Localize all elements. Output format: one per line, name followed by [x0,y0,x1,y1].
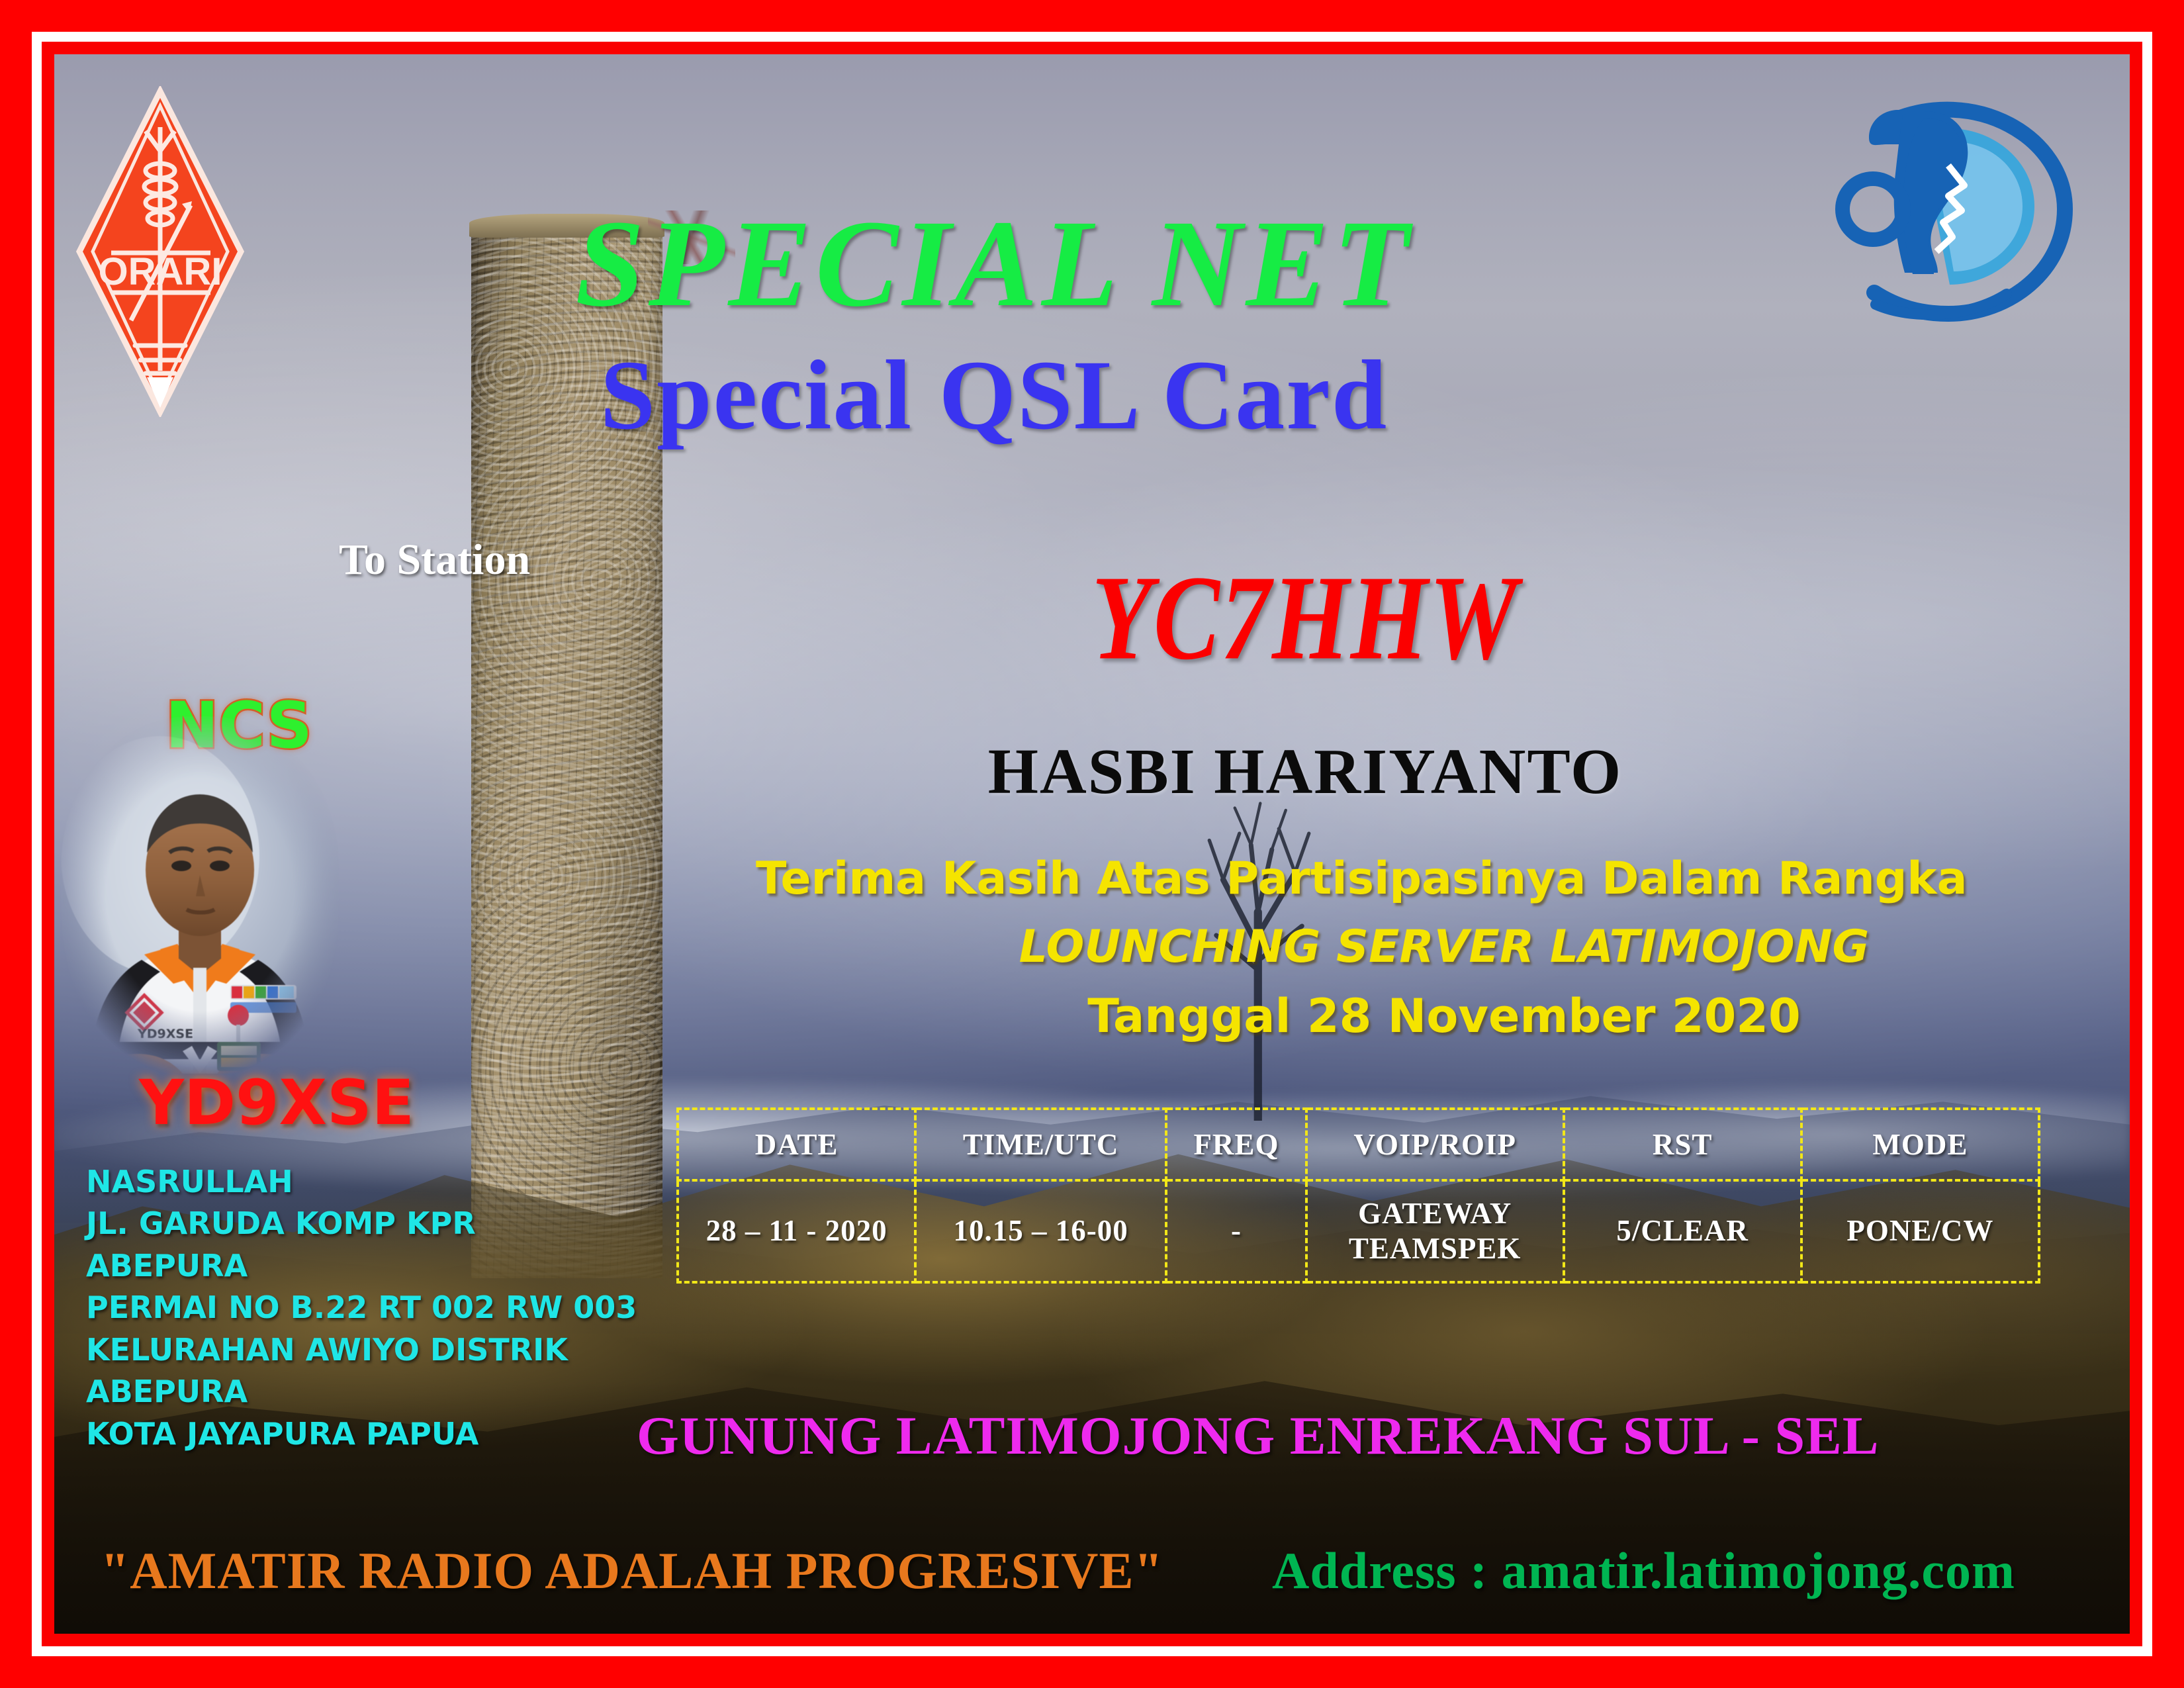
cell-voip: GATEWAYTEAMSPEK [1306,1180,1564,1282]
to-station-label: To Station [339,535,530,585]
column-header-freq: FREQ [1166,1109,1306,1180]
page-subtitle: Special QSL Card [478,346,1510,445]
qso-details-table: DATE TIME/UTC FREQ VOIP/ROIP RST MODE 28… [676,1107,2040,1284]
column-header-mode: MODE [1801,1109,2039,1180]
cell-freq: - [1166,1180,1306,1282]
address-line: NASRULLAH [86,1161,637,1203]
operator-name: HASBI HARIYANTO [842,739,1768,804]
address-line: JL. GARUDA KOMP KPR [86,1203,637,1244]
motto-text: "AMATIR RADIO ADALAH PROGRESIVE" [101,1545,1163,1597]
avatar: YD9XSE [61,716,339,1074]
cell-time: 10.15 – 16-00 [915,1180,1166,1282]
orari-logo-text: ORARI [99,250,222,293]
column-header-rst: RST [1564,1109,1801,1180]
cell-mode: PONE/CW [1801,1180,2039,1282]
location-line: GUNUNG LATIMOJONG ENREKANG SUL - SEL [637,1409,1960,1463]
table-row: 28 – 11 - 2020 10.15 – 16-00 - GATEWAYTE… [678,1180,2039,1282]
event-date-line: Tanggal 28 November 2020 [815,993,2073,1039]
headset-operator-logo-icon [1832,81,2083,332]
address-line: ABEPURA [86,1371,637,1413]
page-title: SPECIAL NET [478,201,1510,326]
address-line: ABEPURA [86,1245,637,1287]
qsl-address-block: NASRULLAH JL. GARUDA KOMP KPR ABEPURA PE… [86,1161,637,1455]
ncs-operator-photo: YD9XSE [61,716,339,1074]
ncs-callsign: YD9XSE [139,1072,414,1135]
web-address-text: Address : amatir.latimojong.com [1272,1545,2015,1597]
event-line: LOUNCHING SERVER LATIMOJONG [815,925,2073,970]
address-line: PERMAI NO B.22 RT 002 RW 003 [86,1287,637,1329]
qsl-card: ORARI SPECIAL NET Special QSL Card To St… [0,0,2184,1688]
orari-logo-icon: ORARI [74,86,246,417]
card-content-layer: ORARI SPECIAL NET Special QSL Card To St… [54,54,2130,1634]
column-header-voip: VOIP/ROIP [1306,1109,1564,1180]
uniform-callsign-patch: YD9XSE [137,1027,193,1041]
column-header-time: TIME/UTC [915,1109,1166,1180]
cell-rst: 5/CLEAR [1564,1180,1801,1282]
address-line: KELURAHAN AWIYO DISTRIK [86,1329,637,1371]
thanks-line: Terima Kasih Atas Partisipasinya Dalam R… [756,857,2132,902]
table-header-row: DATE TIME/UTC FREQ VOIP/ROIP RST MODE [678,1109,2039,1180]
cell-date: 28 – 11 - 2020 [678,1180,915,1282]
column-header-date: DATE [678,1109,915,1180]
address-line: KOTA JAYAPURA PAPUA [86,1413,637,1455]
station-callsign: YC7HHW [842,557,1768,679]
